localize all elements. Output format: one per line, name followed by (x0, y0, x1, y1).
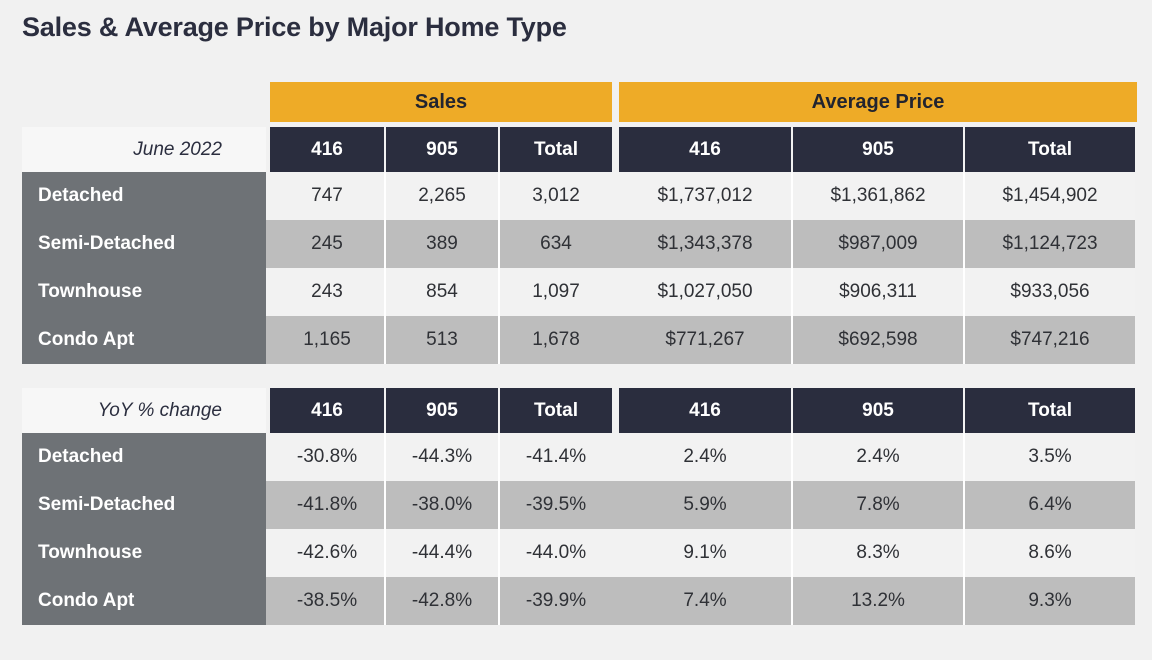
row-gap-2 (612, 220, 619, 268)
cell-sales-905: -44.3% (384, 433, 498, 481)
page-title: Sales & Average Price by Major Home Type (22, 12, 567, 43)
cell-sales-905: 854 (384, 268, 498, 316)
column-header-sales-905[interactable]: 905 (384, 127, 498, 172)
row-gap-2 (612, 529, 619, 577)
row-label-townhouse: Townhouse (22, 529, 266, 577)
column-header-price-416[interactable]: 416 (619, 127, 791, 172)
row-gap-2 (612, 316, 619, 364)
cell-price-905: 7.8% (791, 481, 963, 529)
row-label-townhouse: Townhouse (22, 268, 266, 316)
cell-sales-total: 1,678 (498, 316, 612, 364)
column-header-price-905[interactable]: 905 (791, 388, 963, 433)
row-label-detached: Detached (22, 172, 266, 220)
cell-price-416: $771,267 (619, 316, 791, 364)
cell-price-416: $1,027,050 (619, 268, 791, 316)
group-header-row: Sales Average Price (22, 82, 1137, 122)
cell-price-total: $1,124,723 (963, 220, 1135, 268)
cell-sales-total: -39.9% (498, 577, 612, 625)
cell-sales-total: -41.4% (498, 433, 612, 481)
row-label-semi-detached: Semi-Detached (22, 220, 266, 268)
cell-sales-905: -38.0% (384, 481, 498, 529)
table-row[interactable]: Semi-Detached 245 389 634 $1,343,378 $98… (22, 220, 1137, 268)
cell-price-416: 9.1% (619, 529, 791, 577)
cell-price-416: 5.9% (619, 481, 791, 529)
cell-price-905: 8.3% (791, 529, 963, 577)
column-header-sales-905[interactable]: 905 (384, 388, 498, 433)
table-row[interactable]: Condo Apt 1,165 513 1,678 $771,267 $692,… (22, 316, 1137, 364)
cell-sales-416: -38.5% (270, 577, 384, 625)
group-header-average-price: Average Price (619, 82, 1137, 122)
group-header-sales: Sales (270, 82, 612, 122)
cell-sales-416: 245 (270, 220, 384, 268)
cell-price-416: 2.4% (619, 433, 791, 481)
column-header-price-total[interactable]: Total (963, 127, 1135, 172)
column-header-sales-416[interactable]: 416 (270, 388, 384, 433)
cell-price-total: 8.6% (963, 529, 1135, 577)
cell-sales-total: 1,097 (498, 268, 612, 316)
cell-price-total: $747,216 (963, 316, 1135, 364)
cell-price-total: $933,056 (963, 268, 1135, 316)
cell-price-905: $692,598 (791, 316, 963, 364)
column-header-price-total[interactable]: Total (963, 388, 1135, 433)
cell-sales-416: 1,165 (270, 316, 384, 364)
column-header-row-yoy: YoY % change 416 905 Total 416 905 Total (22, 388, 1137, 433)
corner-label-yoy-pct-change: YoY % change (22, 388, 266, 433)
row-label-condo-apt: Condo Apt (22, 316, 266, 364)
corner-label-june-2022: June 2022 (22, 127, 266, 172)
table-row[interactable]: Semi-Detached -41.8% -38.0% -39.5% 5.9% … (22, 481, 1137, 529)
row-gap-2 (612, 433, 619, 481)
cell-price-total: 6.4% (963, 481, 1135, 529)
row-gap-2 (612, 577, 619, 625)
cell-price-905: $1,361,862 (791, 172, 963, 220)
cell-sales-905: 389 (384, 220, 498, 268)
table-june-2022: Sales Average Price June 2022 416 905 To… (22, 82, 1137, 364)
cell-price-905: $987,009 (791, 220, 963, 268)
column-header-row-june-2022: June 2022 416 905 Total 416 905 Total (22, 127, 1137, 172)
cell-sales-905: 2,265 (384, 172, 498, 220)
table-row[interactable]: Detached 747 2,265 3,012 $1,737,012 $1,3… (22, 172, 1137, 220)
cell-sales-416: 243 (270, 268, 384, 316)
cell-sales-416: -42.6% (270, 529, 384, 577)
cell-sales-total: -44.0% (498, 529, 612, 577)
cell-price-total: $1,454,902 (963, 172, 1135, 220)
group-header-gap-2 (612, 82, 619, 122)
header-gap-2 (612, 127, 619, 172)
row-gap-2 (612, 268, 619, 316)
column-header-price-416[interactable]: 416 (619, 388, 791, 433)
row-gap-2 (612, 172, 619, 220)
cell-price-905: $906,311 (791, 268, 963, 316)
column-header-price-905[interactable]: 905 (791, 127, 963, 172)
row-label-semi-detached: Semi-Detached (22, 481, 266, 529)
column-header-sales-416[interactable]: 416 (270, 127, 384, 172)
report-page: Sales & Average Price by Major Home Type… (0, 0, 1152, 660)
column-header-sales-total[interactable]: Total (498, 127, 612, 172)
cell-price-total: 9.3% (963, 577, 1135, 625)
cell-price-416: $1,343,378 (619, 220, 791, 268)
cell-price-416: 7.4% (619, 577, 791, 625)
cell-sales-905: -44.4% (384, 529, 498, 577)
cell-price-905: 2.4% (791, 433, 963, 481)
row-label-condo-apt: Condo Apt (22, 577, 266, 625)
table-row[interactable]: Townhouse -42.6% -44.4% -44.0% 9.1% 8.3%… (22, 529, 1137, 577)
cell-sales-total: -39.5% (498, 481, 612, 529)
cell-price-416: $1,737,012 (619, 172, 791, 220)
left-margin-rail (0, 0, 22, 660)
row-gap-2 (612, 481, 619, 529)
cell-price-total: 3.5% (963, 433, 1135, 481)
group-header-corner-spacer (22, 82, 266, 122)
cell-sales-905: -42.8% (384, 577, 498, 625)
cell-sales-905: 513 (384, 316, 498, 364)
header-gap-2 (612, 388, 619, 433)
cell-sales-total: 3,012 (498, 172, 612, 220)
column-header-sales-total[interactable]: Total (498, 388, 612, 433)
row-label-detached: Detached (22, 433, 266, 481)
cell-sales-416: 747 (270, 172, 384, 220)
table-yoy-pct-change: YoY % change 416 905 Total 416 905 Total… (22, 388, 1137, 625)
table-row[interactable]: Detached -30.8% -44.3% -41.4% 2.4% 2.4% … (22, 433, 1137, 481)
cell-price-905: 13.2% (791, 577, 963, 625)
cell-sales-total: 634 (498, 220, 612, 268)
table-row[interactable]: Townhouse 243 854 1,097 $1,027,050 $906,… (22, 268, 1137, 316)
table-row[interactable]: Condo Apt -38.5% -42.8% -39.9% 7.4% 13.2… (22, 577, 1137, 625)
cell-sales-416: -41.8% (270, 481, 384, 529)
cell-sales-416: -30.8% (270, 433, 384, 481)
